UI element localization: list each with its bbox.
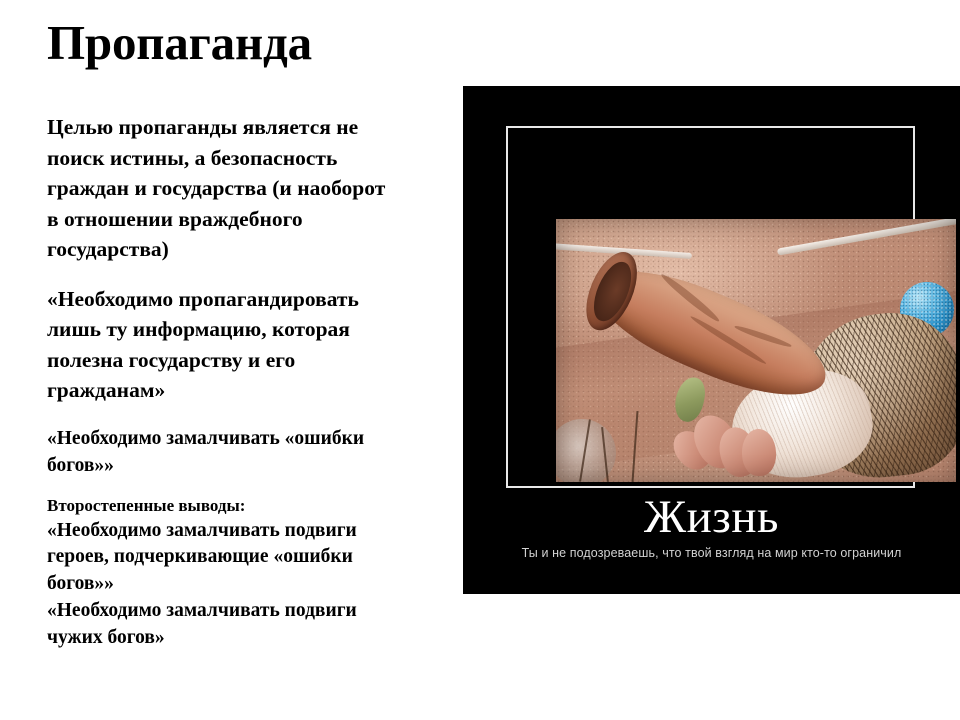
conclusion-line: «Необходимо замалчивать подвиги — [47, 600, 357, 621]
conclusion-line: «Необходимо замалчивать подвиги — [47, 520, 357, 541]
tube-streak — [689, 315, 768, 368]
paragraph-line: гражданам» — [47, 378, 165, 402]
paragraph-line: богов»» — [47, 455, 114, 476]
page-title: Пропаганда — [47, 16, 312, 70]
conclusions-heading: Второстепенные выводы: — [47, 495, 467, 517]
paragraph-line: «Необходимо пропагандировать — [47, 287, 359, 311]
paragraph-line: поиск истины, а безопасность — [47, 146, 337, 170]
hedgehog-photo — [556, 219, 956, 482]
paragraph-quote-primary: «Необходимо пропагандировать лишь ту инф… — [47, 284, 467, 406]
paragraph-line: Целью пропаганды является не — [47, 115, 358, 139]
paragraph-line: граждан и государства (и наоборот — [47, 176, 385, 200]
text-column: Целью пропаганды является не поиск истин… — [47, 112, 467, 652]
paragraph-line: «Необходимо замалчивать «ошибки — [47, 428, 364, 449]
poster-subtitle: Ты и не подозреваешь, что твой взгляд на… — [463, 546, 960, 560]
paragraph-definition: Целью пропаганды является не поиск истин… — [47, 112, 467, 265]
conclusion-line: героев, подчеркивающие «ошибки — [47, 546, 353, 567]
paragraph-quote-secondary: «Необходимо замалчивать «ошибки богов»» — [47, 426, 467, 480]
paragraph-line: государства) — [47, 237, 169, 261]
conclusions-list: «Необходимо замалчивать подвиги героев, … — [47, 518, 467, 653]
paragraph-line: лишь ту информацию, которая — [47, 317, 350, 341]
conclusion-line: богов»» — [47, 573, 114, 594]
poster-frame — [506, 126, 915, 488]
demotivator-poster: Жизнь Ты и не подозреваешь, что твой взг… — [463, 86, 960, 594]
hedgehog-paw — [741, 429, 777, 477]
paragraph-line: в отношении враждебного — [47, 207, 303, 231]
conclusion-line: чужих богов» — [47, 627, 165, 648]
paragraph-line: полезна государству и его — [47, 348, 295, 372]
poster-title: Жизнь — [463, 494, 960, 541]
